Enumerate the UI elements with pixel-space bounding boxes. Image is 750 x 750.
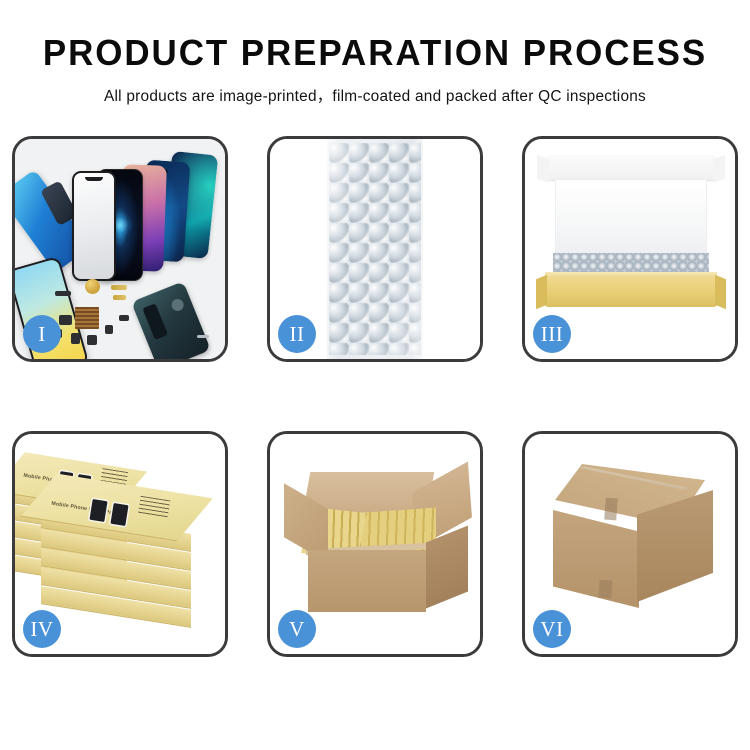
- sim-tray-icon: [87, 335, 97, 345]
- step-badge-6: VI: [533, 610, 571, 648]
- bubble-wrap-sheet: [327, 139, 423, 359]
- carton-seam-bottom: [598, 580, 612, 599]
- connector-part-icon: [105, 325, 113, 334]
- step-badge-4: IV: [23, 610, 61, 648]
- bubble-gloss-overlay: [327, 139, 423, 359]
- mailer-box-lid: [547, 155, 715, 181]
- step-panel-1: I: [12, 136, 228, 362]
- sensor-part-icon: [119, 315, 129, 321]
- flex-cable-icon: [111, 285, 127, 290]
- flex-cable-2-icon: [113, 295, 126, 300]
- speaker-part-icon: [85, 279, 100, 294]
- page-header: PRODUCT PREPARATION PROCESS All products…: [0, 0, 750, 106]
- step-badge-5: V: [278, 610, 316, 648]
- camera-module-icon: [59, 315, 72, 325]
- page-subtitle: All products are image-printed，film-coat…: [0, 84, 750, 106]
- step-badge-2: II: [278, 315, 316, 353]
- carton-seam-top: [604, 498, 618, 521]
- sealed-carton-front: [553, 510, 639, 608]
- chip-grid-icon: [75, 307, 99, 329]
- page-title: PRODUCT PREPARATION PROCESS: [11, 34, 739, 73]
- step-panel-5: V: [267, 431, 483, 657]
- step-badge-1: I: [23, 315, 61, 353]
- foam-insert: [555, 179, 707, 257]
- process-steps-grid: I II III: [12, 136, 738, 657]
- mailer-box-front: [545, 277, 717, 307]
- tweezers-icon: [197, 335, 209, 338]
- step-badge-3: III: [533, 315, 571, 353]
- product-preparation-page: PRODUCT PREPARATION PROCESS All products…: [0, 0, 750, 750]
- step-panel-4: Mobile Phone Spare Parts Mobile Phone Sp…: [12, 431, 228, 657]
- step-panel-2: II: [267, 136, 483, 362]
- button-part-icon: [71, 333, 80, 344]
- step-panel-3: III: [522, 136, 738, 362]
- carton-front-face: [308, 550, 426, 612]
- step-panel-6: VI: [522, 431, 738, 657]
- earpiece-part-icon: [55, 291, 71, 296]
